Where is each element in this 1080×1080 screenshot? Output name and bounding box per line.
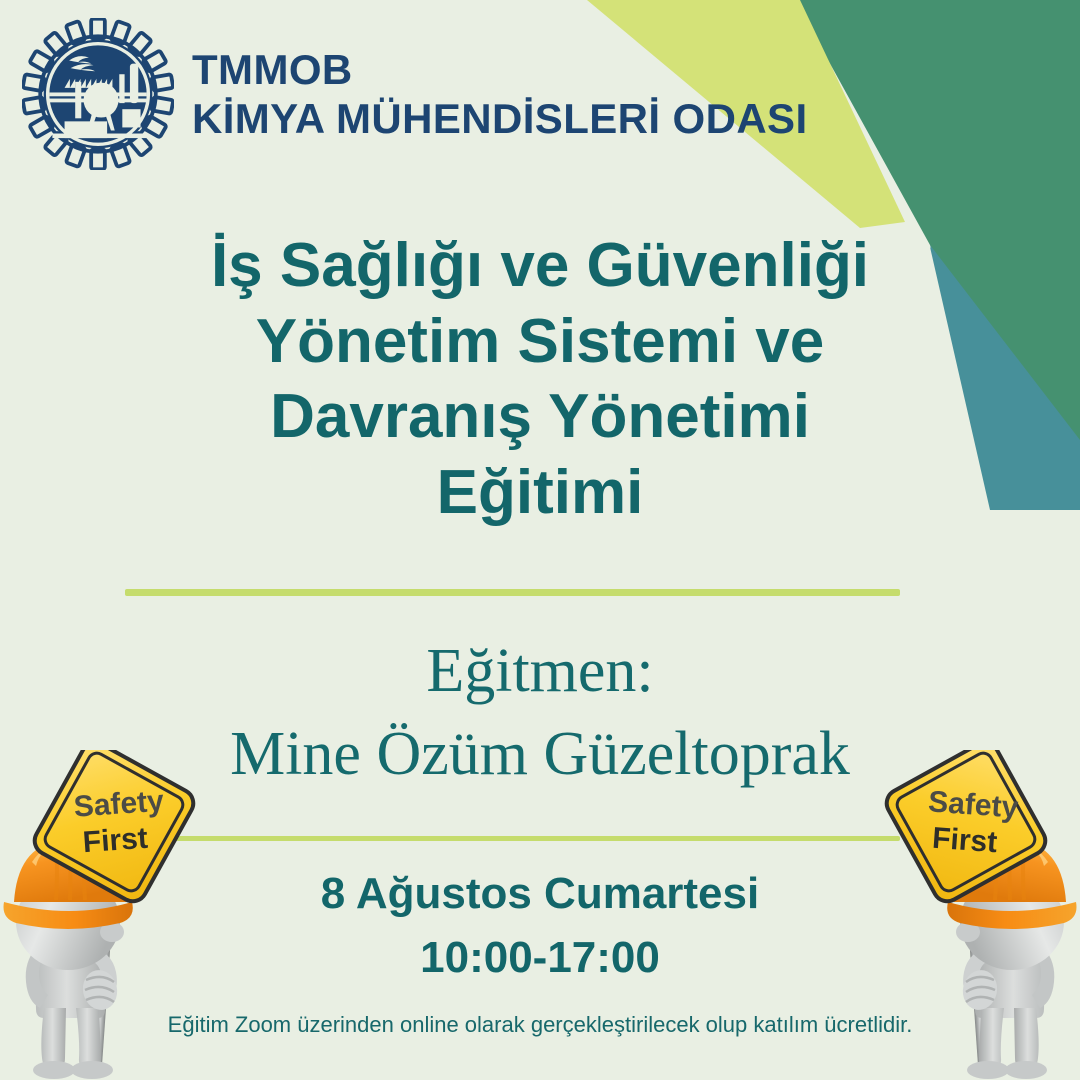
sign-text-line2-right: First <box>931 822 998 859</box>
sign-text-line2: First <box>82 822 149 859</box>
org-line-tmmob: TMMOB <box>192 46 808 93</box>
title-line-4: Eğitimi <box>120 455 960 531</box>
divider-top <box>125 589 900 596</box>
page-title: İş Sağlığı ve Güvenliği Yönetim Sistemi … <box>0 228 1080 531</box>
title-line-3: Davranış Yönetimi <box>120 379 960 455</box>
organization-name: TMMOB KİMYA MÜHENDİSLERİ ODASI <box>192 46 808 142</box>
safety-mascot-right: Safety First <box>834 750 1080 1080</box>
title-line-1: İş Sağlığı ve Güvenliği <box>120 228 960 304</box>
org-line-chamber: KİMYA MÜHENDİSLERİ ODASI <box>192 95 808 142</box>
safety-mascot-left: Safety First <box>0 750 246 1080</box>
instructor-label: Eğitmen: <box>0 630 1080 713</box>
mascot-body <box>16 874 124 1079</box>
sign-text-line1: Safety <box>73 785 165 824</box>
poster-header: TMMOB KİMYA MÜHENDİSLERİ ODASI <box>22 18 808 170</box>
event-poster: TMMOB KİMYA MÜHENDİSLERİ ODASI İş Sağlığ… <box>0 0 1080 1080</box>
sign-text-line1-right: Safety <box>927 785 1019 824</box>
tmmob-gear-logo-icon <box>22 18 174 170</box>
title-line-2: Yönetim Sistemi ve <box>120 304 960 380</box>
